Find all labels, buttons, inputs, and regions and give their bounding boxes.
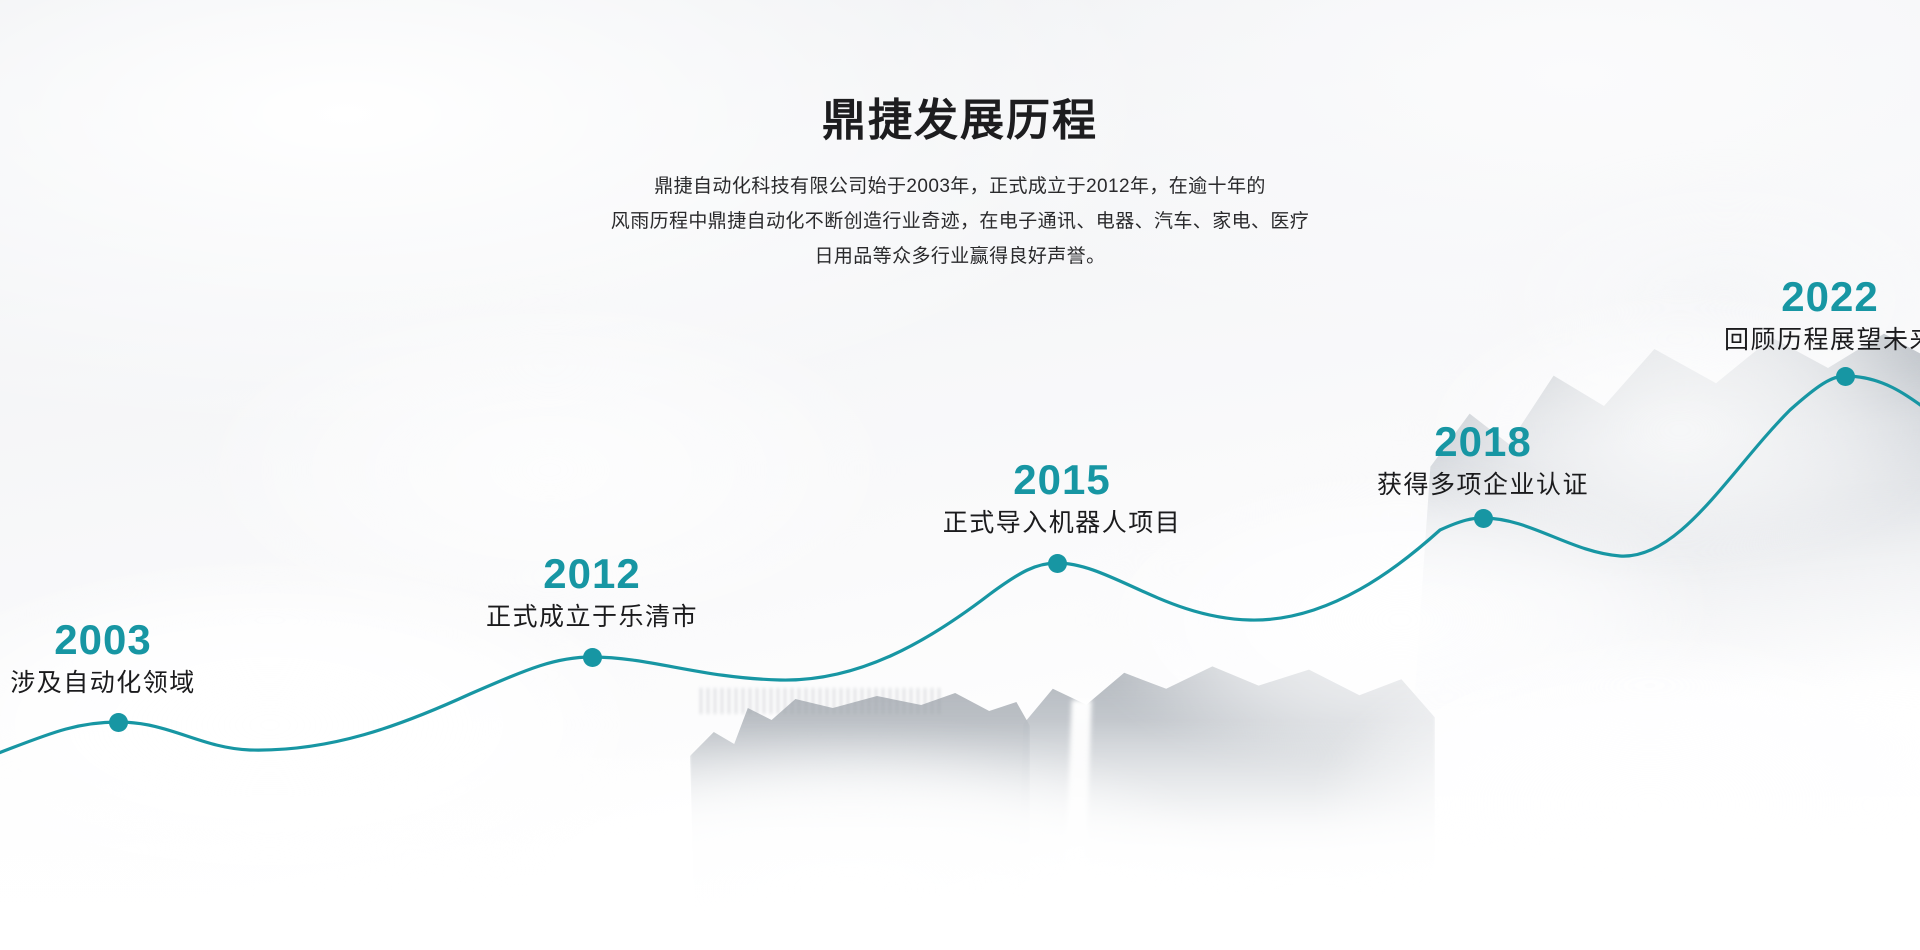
subtitle-line-1: 鼎捷自动化科技有限公司始于2003年，正式成立于2012年，在逾十年的 <box>550 169 1370 204</box>
milestone-dot-2018[interactable] <box>1474 509 1493 528</box>
milestone-year: 2015 <box>943 458 1182 502</box>
milestone-label: 回顾历程展望未来 <box>1724 325 1920 355</box>
subtitle-line-2: 风雨历程中鼎捷自动化不断创造行业奇迹，在电子通讯、电器、汽车、家电、医疗 <box>550 204 1370 239</box>
milestone-label: 涉及自动化领域 <box>10 668 196 698</box>
page-title: 鼎捷发展历程 <box>0 96 1920 147</box>
milestone-label: 正式成立于乐清市 <box>486 602 698 632</box>
milestone-year: 2012 <box>486 552 698 596</box>
milestone-dot-2003[interactable] <box>109 713 128 732</box>
milestone-dot-2015[interactable] <box>1048 554 1067 573</box>
milestone-dot-2012[interactable] <box>583 648 602 667</box>
milestone-label: 正式导入机器人项目 <box>943 508 1182 538</box>
milestone-label: 获得多项企业认证 <box>1377 470 1589 500</box>
milestone-2012[interactable]: 2012 正式成立于乐清市 <box>486 552 698 632</box>
timeline-infographic: 鼎捷发展历程 鼎捷自动化科技有限公司始于2003年，正式成立于2012年，在逾十… <box>0 0 1920 950</box>
page-subtitle: 鼎捷自动化科技有限公司始于2003年，正式成立于2012年，在逾十年的 风雨历程… <box>550 169 1370 274</box>
milestone-year: 2003 <box>10 618 196 662</box>
milestone-2015[interactable]: 2015 正式导入机器人项目 <box>943 458 1182 538</box>
milestone-2022[interactable]: 2022 回顾历程展望未来 <box>1724 275 1920 355</box>
milestone-year: 2022 <box>1724 275 1920 319</box>
milestone-year: 2018 <box>1377 420 1589 464</box>
header: 鼎捷发展历程 鼎捷自动化科技有限公司始于2003年，正式成立于2012年，在逾十… <box>0 96 1920 274</box>
milestone-dot-2022[interactable] <box>1836 367 1855 386</box>
milestone-2018[interactable]: 2018 获得多项企业认证 <box>1377 420 1589 500</box>
subtitle-line-3: 日用品等众多行业赢得良好声誉。 <box>550 239 1370 274</box>
timeline-curve-path <box>0 376 1920 760</box>
milestone-2003[interactable]: 2003 涉及自动化领域 <box>10 618 196 698</box>
